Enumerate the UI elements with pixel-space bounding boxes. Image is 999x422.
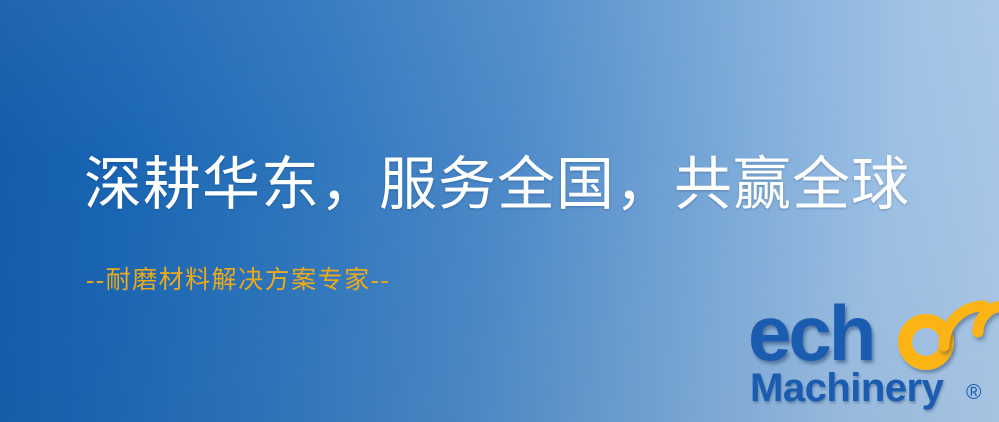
logo-text-ech: ech bbox=[748, 294, 873, 372]
logo-text-machinery: Machinery bbox=[750, 368, 943, 408]
wifi-signal-arcs-icon bbox=[934, 296, 999, 358]
logo-wordmark: ech bbox=[748, 300, 999, 374]
logo-registered-mark: ® bbox=[966, 382, 981, 403]
banner-subheadline: --耐磨材料解决方案专家-- bbox=[86, 266, 390, 296]
promo-banner: 深耕华东，服务全国，共赢全球 --耐磨材料解决方案专家-- ech Machin… bbox=[0, 0, 999, 422]
banner-headline: 深耕华东，服务全国，共赢全球 bbox=[84, 152, 910, 219]
echo-machinery-logo: ech Machinery ® bbox=[748, 300, 999, 422]
